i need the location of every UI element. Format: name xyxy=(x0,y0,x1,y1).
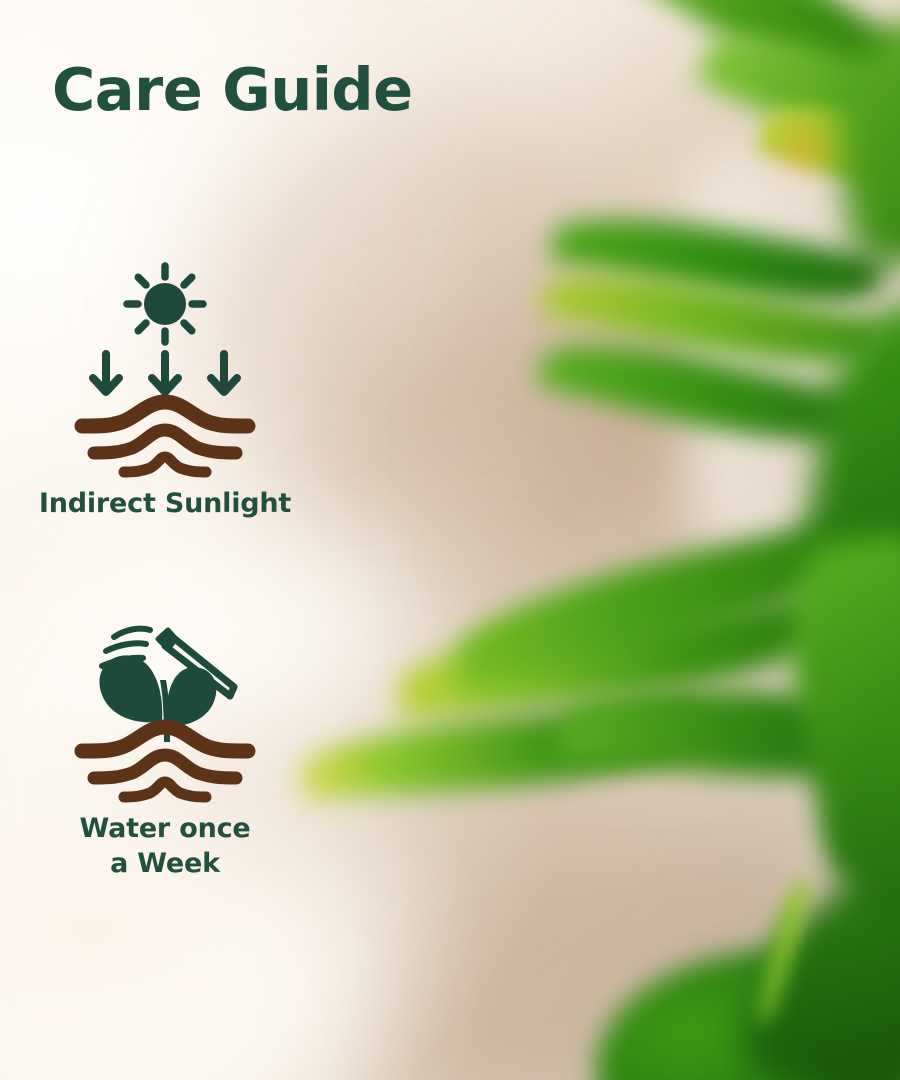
page-title: Care Guide xyxy=(52,58,413,123)
watering-sprout-svg xyxy=(80,618,250,798)
sun-over-soil-icon xyxy=(10,258,320,473)
care-item-label-indirect-sunlight: Indirect Sunlight xyxy=(10,487,320,522)
care-item-indirect-sunlight: Indirect Sunlight xyxy=(10,258,320,522)
sun-icon xyxy=(127,266,203,342)
care-item-water-once-a-week: Water once a Week xyxy=(10,618,320,881)
care-label-line-1: Water once xyxy=(10,812,320,847)
down-arrows-icon xyxy=(93,354,237,392)
watering-sprout-icon xyxy=(10,618,320,798)
care-item-label-water-once-a-week: Water once a Week xyxy=(10,812,320,881)
care-guide-page: Care Guide xyxy=(0,0,900,1080)
care-label-line-2: a Week xyxy=(10,847,320,882)
soil-layers-icon xyxy=(82,402,248,472)
sun-over-soil-svg xyxy=(80,258,250,473)
